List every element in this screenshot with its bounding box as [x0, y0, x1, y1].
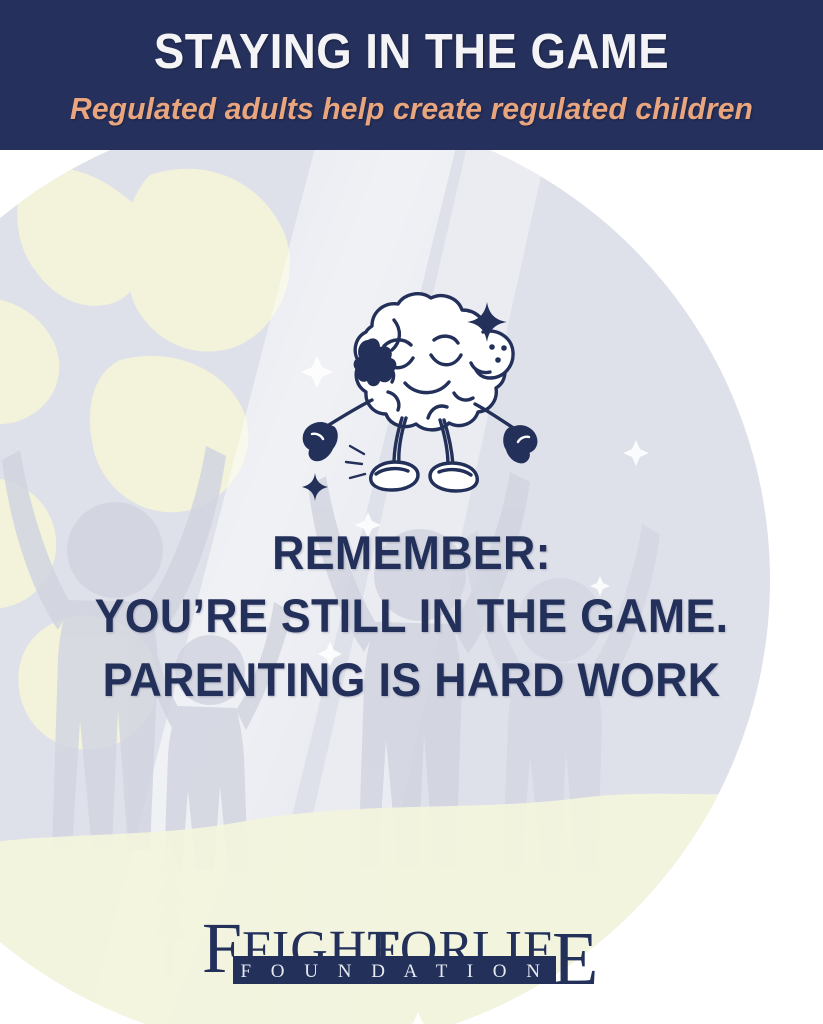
message-line-1: REMEMBER: — [21, 522, 803, 584]
left-arm — [324, 400, 372, 428]
brain-character-svg — [268, 268, 558, 518]
fight-for-life-foundation-logo: F FIGHT FOR LIF E F O U N D A T I O N — [200, 904, 620, 996]
left-hand — [304, 423, 337, 460]
logo-svg: F FIGHT FOR LIF E F O U N D A T I O N — [200, 904, 620, 996]
brain-mascot-illustration — [268, 268, 558, 518]
left-foot — [371, 462, 418, 490]
header-banner: STAYING IN THE GAME Regulated adults hel… — [0, 0, 823, 150]
poster-canvas: STAYING IN THE GAME Regulated adults hel… — [0, 0, 823, 1024]
message-line-2: YOU’RE STILL IN THE GAME. — [21, 584, 803, 648]
page-title: STAYING IN THE GAME — [29, 26, 794, 78]
right-hand — [505, 426, 537, 462]
logo-foundation-text: F O U N D A T I O N — [240, 961, 547, 982]
energy-lines — [346, 446, 365, 478]
logo-letter-e: E — [552, 917, 598, 996]
message-line-3: PARENTING IS HARD WORK — [21, 648, 803, 712]
sparkle-bottom-left-icon — [302, 473, 328, 501]
right-foot — [430, 463, 477, 491]
main-message: REMEMBER: YOU’RE STILL IN THE GAME. PARE… — [0, 522, 823, 712]
page-subtitle: Regulated adults help create regulated c… — [12, 92, 810, 126]
